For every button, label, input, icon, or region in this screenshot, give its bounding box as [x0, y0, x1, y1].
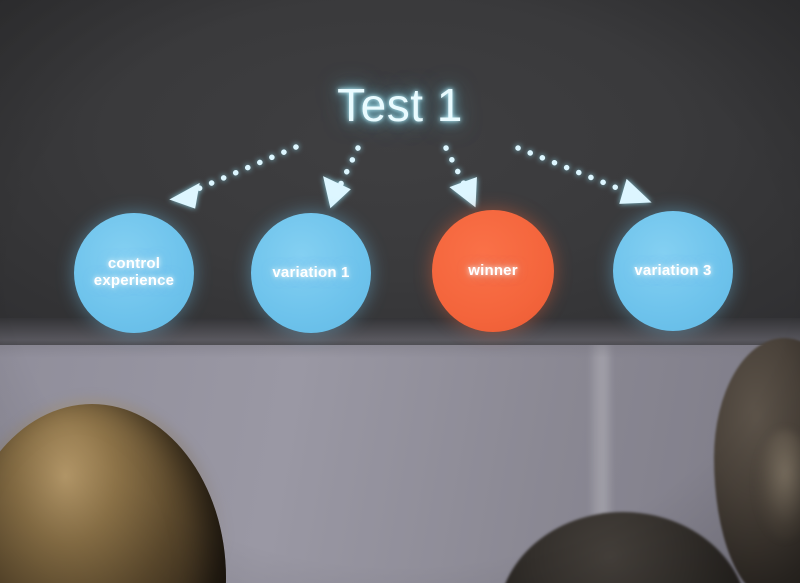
- arrow-to-variation-3: [518, 148, 645, 201]
- arrow-to-control-experience: [176, 147, 296, 205]
- arrow-to-winner: [446, 148, 474, 202]
- node-winner[interactable]: winner: [432, 210, 554, 332]
- node-label: variation 1: [266, 265, 355, 282]
- node-label: variation 3: [628, 263, 717, 280]
- node-variation-3[interactable]: variation 3: [613, 211, 733, 331]
- node-label: winner: [462, 263, 524, 280]
- photo-of-projected-slide: Test 1 c: [0, 0, 800, 583]
- node-variation-1[interactable]: variation 1: [251, 213, 371, 333]
- arrow-to-variation-1: [327, 148, 358, 203]
- node-label: controlexperience: [88, 256, 180, 290]
- node-control-experience[interactable]: controlexperience: [74, 213, 194, 333]
